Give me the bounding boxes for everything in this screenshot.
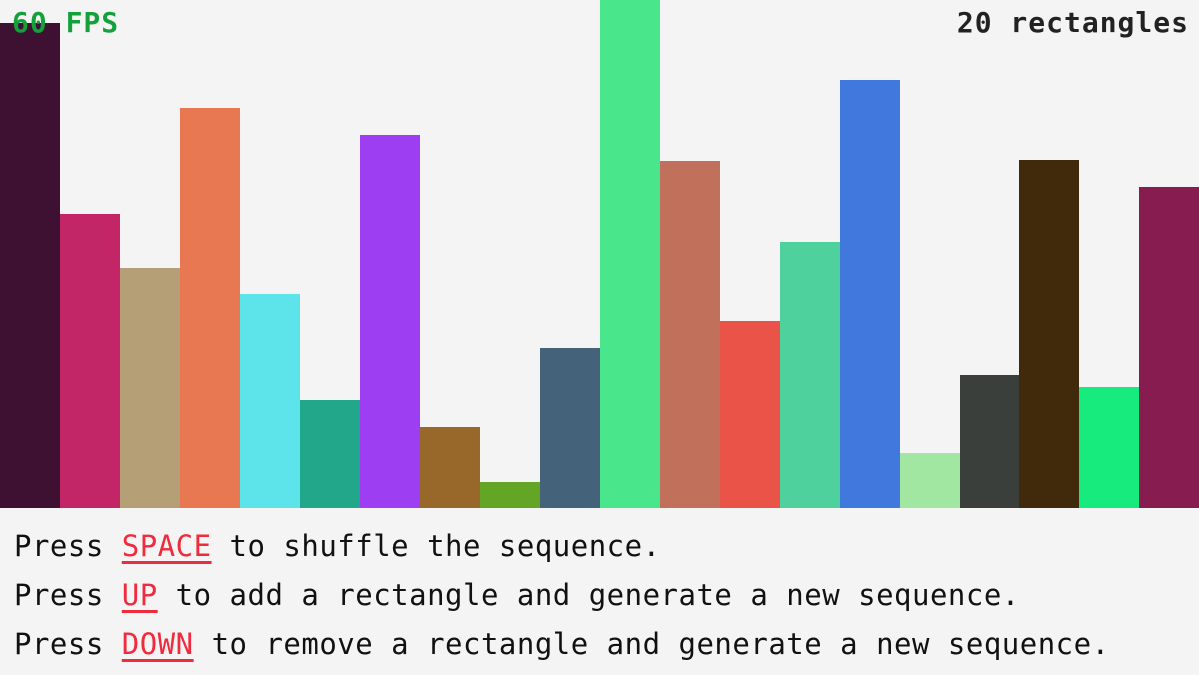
instruction-suffix: to add a rectangle and generate a new se…: [158, 578, 1020, 612]
bar-terracotta: [660, 161, 720, 508]
app-root: 60 FPS 20 rectangles Press SPACE to shuf…: [0, 0, 1199, 675]
instruction-prefix: Press: [14, 627, 122, 661]
bar-mint-green: [600, 0, 660, 508]
bar-pale-green: [900, 453, 960, 508]
key-down[interactable]: DOWN: [122, 627, 194, 661]
instruction-line-1: Press SPACE to shuffle the sequence.: [14, 522, 1199, 571]
bar-dark-plum: [0, 23, 60, 508]
instruction-line-3: Press DOWN to remove a rectangle and gen…: [14, 620, 1199, 669]
bar-teal-green: [300, 400, 360, 508]
rectangle-count-label: 20 rectangles: [957, 8, 1189, 38]
bar-jade-green: [780, 242, 840, 508]
instruction-suffix: to shuffle the sequence.: [212, 529, 661, 563]
bar-chart-canvas[interactable]: [0, 0, 1199, 508]
bar-wine-magenta: [1139, 187, 1199, 508]
bar-bronze-brown: [420, 427, 480, 508]
bar-dark-brown: [1019, 160, 1079, 508]
bar-olive-green: [480, 482, 540, 508]
bar-khaki-tan: [120, 268, 180, 508]
bar-crimson-pink: [60, 214, 120, 508]
bar-royal-blue: [840, 80, 900, 508]
instruction-line-2: Press UP to add a rectangle and generate…: [14, 571, 1199, 620]
bar-tomato-red: [720, 321, 780, 508]
bar-sky-cyan: [240, 294, 300, 508]
bar-slate-blue: [540, 348, 600, 508]
instruction-suffix: to remove a rectangle and generate a new…: [194, 627, 1110, 661]
bar-charcoal: [960, 375, 1020, 508]
instructions-panel: Press SPACE to shuffle the sequence.Pres…: [0, 508, 1199, 675]
instruction-prefix: Press: [14, 578, 122, 612]
bar-salmon-orange: [180, 108, 240, 508]
key-up[interactable]: UP: [122, 578, 158, 612]
key-space[interactable]: SPACE: [122, 529, 212, 563]
instruction-prefix: Press: [14, 529, 122, 563]
bar-violet-purple: [360, 135, 420, 508]
fps-counter: 60 FPS: [12, 8, 119, 38]
bar-spring-green: [1079, 387, 1139, 508]
